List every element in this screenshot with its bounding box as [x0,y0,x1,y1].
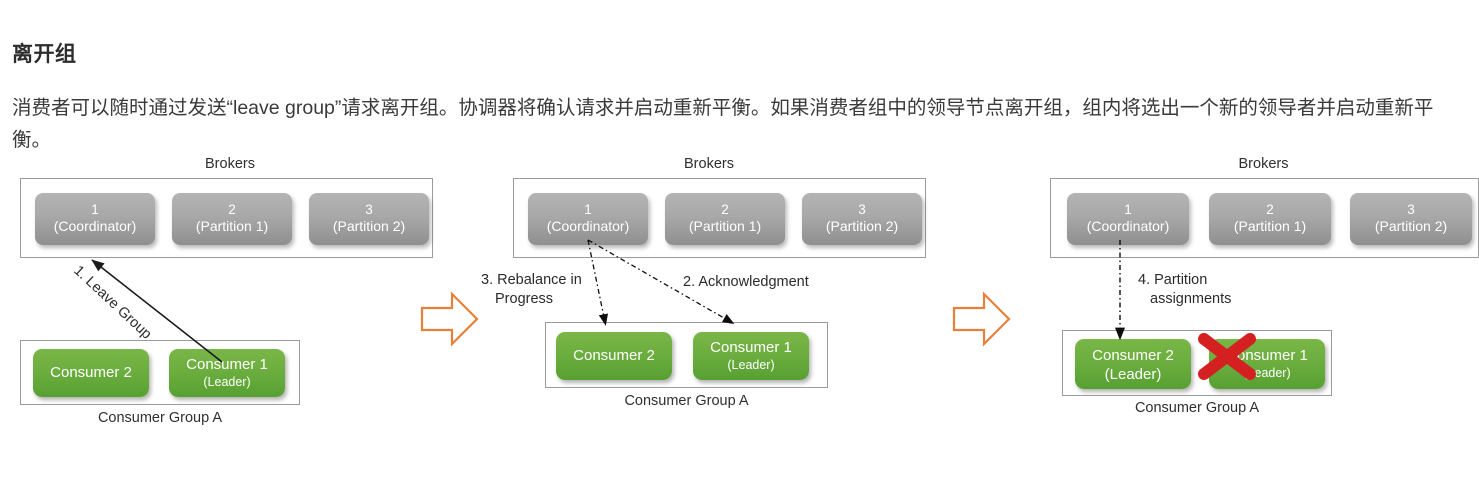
step-label-rebalance-line2: Progress [481,290,586,309]
step-label-partition-assignments: 4. Partition assignments [1138,271,1268,309]
broker-role: (Partition 1) [1209,218,1331,235]
broker-box-1[interactable]: 1 (Coordinator) [35,193,155,245]
step-label-rebalance: 3. Rebalance in Progress [481,271,586,309]
kafka-leave-group-diagram: Brokers 1 (Coordinator) 2 (Partition 1) … [0,150,1479,430]
broker-role: (Partition 1) [665,218,785,235]
broker-box-2[interactable]: 2 (Partition 1) [665,193,785,245]
consumer-group-caption: Consumer Group A [20,410,300,426]
diagram-panel-rebalance: Brokers 1 (Coordinator) 2 (Partition 1) … [493,150,953,430]
consumer-name: Consumer 2 [556,346,672,365]
brokers-caption: Brokers [503,156,915,172]
brokers-frame: 1 (Coordinator) 2 (Partition 1) 3 (Parti… [1050,178,1479,258]
broker-id: 3 [1350,201,1472,218]
consumer-box-1[interactable]: Consumer 1 (Leader) [693,332,809,380]
consumer-group-frame: Consumer 2 Consumer 1 (Leader) [20,340,300,405]
broker-id: 2 [665,201,785,218]
consumer-box-2[interactable]: Consumer 2 [33,349,149,397]
consumer-name: Consumer 1 [693,338,809,357]
consumer-group-caption: Consumer Group A [1062,400,1332,416]
broker-role: (Partition 2) [1350,218,1472,235]
broker-id: 1 [35,201,155,218]
flow-arrow-icon [952,290,1012,348]
consumer-name: Consumer 1 [169,355,285,374]
consumer-group-frame: Consumer 2 (Leader) Consumer 1 (Leader) [1062,330,1332,396]
brokers-frame: 1 (Coordinator) 2 (Partition 1) 3 (Parti… [513,178,926,258]
broker-role: (Coordinator) [1067,218,1189,235]
broker-id: 1 [528,201,648,218]
broker-box-2[interactable]: 2 (Partition 1) [1209,193,1331,245]
broker-box-3[interactable]: 3 (Partition 2) [1350,193,1472,245]
diagram-panel-partition-assignments: Brokers 1 (Coordinator) 2 (Partition 1) … [1022,150,1479,430]
step-label-partition-line1: 4. Partition [1138,271,1268,290]
consumer-name: Consumer 2 [1075,346,1191,365]
broker-id: 2 [172,201,292,218]
brokers-caption: Brokers [1050,156,1477,172]
broker-box-3[interactable]: 3 (Partition 2) [802,193,922,245]
step-label-leave-group: 1. Leave Group [69,262,155,344]
brokers-caption: Brokers [0,156,460,172]
broker-id: 3 [309,201,429,218]
broker-role: (Coordinator) [528,218,648,235]
broker-id: 2 [1209,201,1331,218]
broker-box-1[interactable]: 1 (Coordinator) [1067,193,1189,245]
consumer-name: Consumer 2 [33,363,149,382]
broker-box-3[interactable]: 3 (Partition 2) [309,193,429,245]
consumer-box-1[interactable]: Consumer 1 (Leader) [169,349,285,397]
diagram-panel-leave-group: Brokers 1 (Coordinator) 2 (Partition 1) … [0,150,460,430]
brokers-frame: 1 (Coordinator) 2 (Partition 1) 3 (Parti… [20,178,433,258]
consumer-role: (Leader) [169,374,285,390]
broker-role: (Partition 2) [802,218,922,235]
consumer-role: (Leader) [1209,365,1325,381]
broker-role: (Coordinator) [35,218,155,235]
consumer-role: (Leader) [693,357,809,373]
broker-role: (Partition 1) [172,218,292,235]
consumer-group-frame: Consumer 2 Consumer 1 (Leader) [545,322,828,388]
consumer-box-2[interactable]: Consumer 2 [556,332,672,380]
page-title: 离开组 [12,38,77,68]
consumer-box-1[interactable]: Consumer 1 (Leader) [1209,339,1325,389]
consumer-role: (Leader) [1075,365,1191,384]
consumer-name: Consumer 1 [1209,346,1325,365]
broker-id: 3 [802,201,922,218]
consumer-group-caption: Consumer Group A [545,393,828,409]
broker-box-2[interactable]: 2 (Partition 1) [172,193,292,245]
step-label-rebalance-line1: 3. Rebalance in [481,271,586,290]
step-label-partition-line2: assignments [1138,290,1268,309]
flow-arrow-icon [420,290,480,348]
article-paragraph: 消费者可以随时通过发送“leave group”请求离开组。协调器将确认请求并启… [12,92,1472,156]
consumer-box-2[interactable]: Consumer 2 (Leader) [1075,339,1191,389]
broker-box-1[interactable]: 1 (Coordinator) [528,193,648,245]
broker-role: (Partition 2) [309,218,429,235]
broker-id: 1 [1067,201,1189,218]
step-label-acknowledgment: 2. Acknowledgment [683,273,809,292]
